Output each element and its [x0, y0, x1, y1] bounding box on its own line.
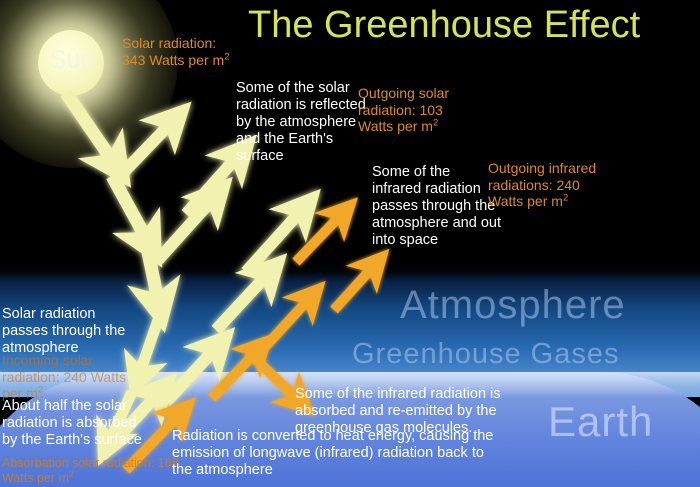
label-reflected: Some of the solar radiation is reflected… [236, 80, 366, 166]
label-solar-passes: Solar radiation passes through the atmos… [2, 306, 132, 357]
label-outgoing-solar: Outgoing solar radiation: 103 Watts per … [358, 85, 473, 135]
superscript-2: 2 [563, 192, 568, 203]
label-converted-heat: Radiation is converted to heat energy, c… [172, 428, 502, 479]
label-half-absorbed: About half the solar radiation is absorb… [2, 398, 142, 449]
superscript-2: 2 [38, 384, 43, 395]
label-absorbation-solar: Absorbation solar radiation: 168 Watts p… [2, 456, 187, 486]
label-absorbation-solar-text: Absorbation solar radiation: 168 Watts p… [2, 456, 179, 485]
label-solar-radiation: Solar radiation: 343 Watts per m2 [122, 35, 232, 68]
page-title: The Greenhouse Effect [248, 4, 640, 47]
solar-incoming-arrows [66, 93, 158, 300]
label-incoming-solar: Incoming solar radiation: 240 Watts per … [2, 352, 137, 402]
greenhouse-effect-diagram: Atmosphere Greenhouse Gases Earth Sun [0, 0, 700, 487]
superscript-2: 2 [433, 117, 438, 128]
label-outgoing-infrared: Outgoing infrared radiations: 240 Watts … [488, 160, 600, 210]
label-passes-through: Some of the infrared radiation passes th… [372, 164, 502, 250]
infrared-reemitted-arrow [248, 352, 296, 398]
label-incoming-solar-text: Incoming solar radiation: 240 Watts per … [2, 352, 126, 401]
superscript-2: 2 [224, 51, 229, 62]
superscript-2: 2 [69, 469, 74, 479]
label-solar-radiation-text: Solar radiation: 343 Watts per m [122, 35, 224, 68]
solar-reflected-arrows [112, 124, 300, 444]
label-outgoing-infrared-text: Outgoing infrared radiations: 240 Watts … [488, 160, 596, 209]
